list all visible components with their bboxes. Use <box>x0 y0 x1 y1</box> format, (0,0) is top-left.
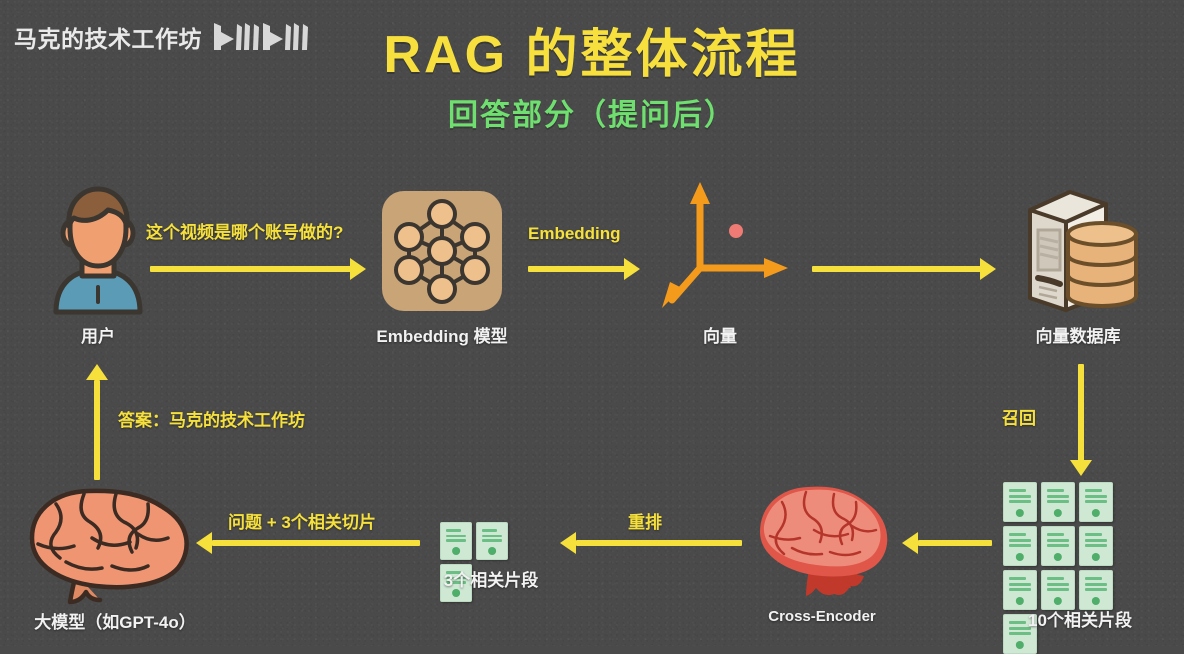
page-title: RAG 的整体流程 <box>0 12 1184 87</box>
node-label-vector: 向量 <box>655 322 785 347</box>
document-card <box>1003 570 1037 610</box>
document-seal-dot <box>1016 553 1024 561</box>
document-seal-dot <box>1016 597 1024 605</box>
arrow-label-embedding: Embedding <box>528 224 621 244</box>
arrow-label-question-plus-chunks: 问题 + 3个相关切片 <box>228 508 376 533</box>
document-seal-dot <box>1054 553 1062 561</box>
document-seal-dot <box>1016 509 1024 517</box>
document-seal-dot <box>1092 509 1100 517</box>
server-database-icon <box>1014 186 1140 316</box>
arrow-docs3-to-llm <box>196 532 420 554</box>
document-card <box>476 522 508 560</box>
neural-network-icon <box>381 190 503 312</box>
arrow-label-rerank: 重排 <box>628 508 662 533</box>
document-seal-dot <box>452 547 460 555</box>
arrow-vector-to-db <box>812 258 1008 280</box>
arrow-label-recall: 召回 <box>1002 404 1036 429</box>
node-label-cross-encoder: Cross-Encoder <box>742 608 902 625</box>
arrow-user-to-embedding <box>150 258 368 280</box>
document-seal-dot <box>488 547 496 555</box>
arrow-crossencoder-to-docs3 <box>560 532 742 554</box>
document-card <box>440 522 472 560</box>
arrow-db-to-docs10 <box>1070 364 1092 480</box>
document-card <box>1003 526 1037 566</box>
node-label-vector-db: 向量数据库 <box>1008 322 1148 347</box>
document-card <box>1041 482 1075 522</box>
arrow-docs10-to-crossencoder <box>902 532 992 554</box>
node-label-docs-3: 3个相关片段 <box>424 566 558 591</box>
document-card <box>1079 526 1113 566</box>
diagram-canvas: 马克的技术工作坊 RAG 的整体流程 回答部分（提问后） <box>0 0 1184 646</box>
page-subtitle: 回答部分（提问后） <box>0 90 1184 134</box>
node-label-embedding-model: Embedding 模型 <box>352 322 532 347</box>
arrow-embedding-to-vector <box>528 258 652 280</box>
arrow-label-answer: 答案：马克的技术工作坊 <box>118 406 305 431</box>
document-card <box>1041 570 1075 610</box>
node-label-user: 用户 <box>38 322 158 347</box>
brain-icon-cross-encoder <box>752 482 894 600</box>
node-label-llm: 大模型（如GPT-4o） <box>0 608 230 633</box>
document-card <box>1079 570 1113 610</box>
document-seal-dot <box>1016 641 1024 649</box>
document-seal-dot <box>1054 597 1062 605</box>
document-card <box>1003 482 1037 522</box>
arrow-llm-to-user <box>86 364 108 480</box>
node-label-docs-10: 10个相关片段 <box>1000 606 1160 631</box>
3d-axes-icon <box>660 176 790 308</box>
document-card <box>1079 482 1113 522</box>
document-seal-dot <box>1054 509 1062 517</box>
document-seal-dot <box>1092 553 1100 561</box>
document-card <box>1041 526 1075 566</box>
arrow-label-user-question: 这个视频是哪个账号做的? <box>146 218 343 243</box>
document-seal-dot <box>1092 597 1100 605</box>
user-avatar-icon <box>38 186 158 314</box>
brain-icon-llm <box>22 486 198 610</box>
